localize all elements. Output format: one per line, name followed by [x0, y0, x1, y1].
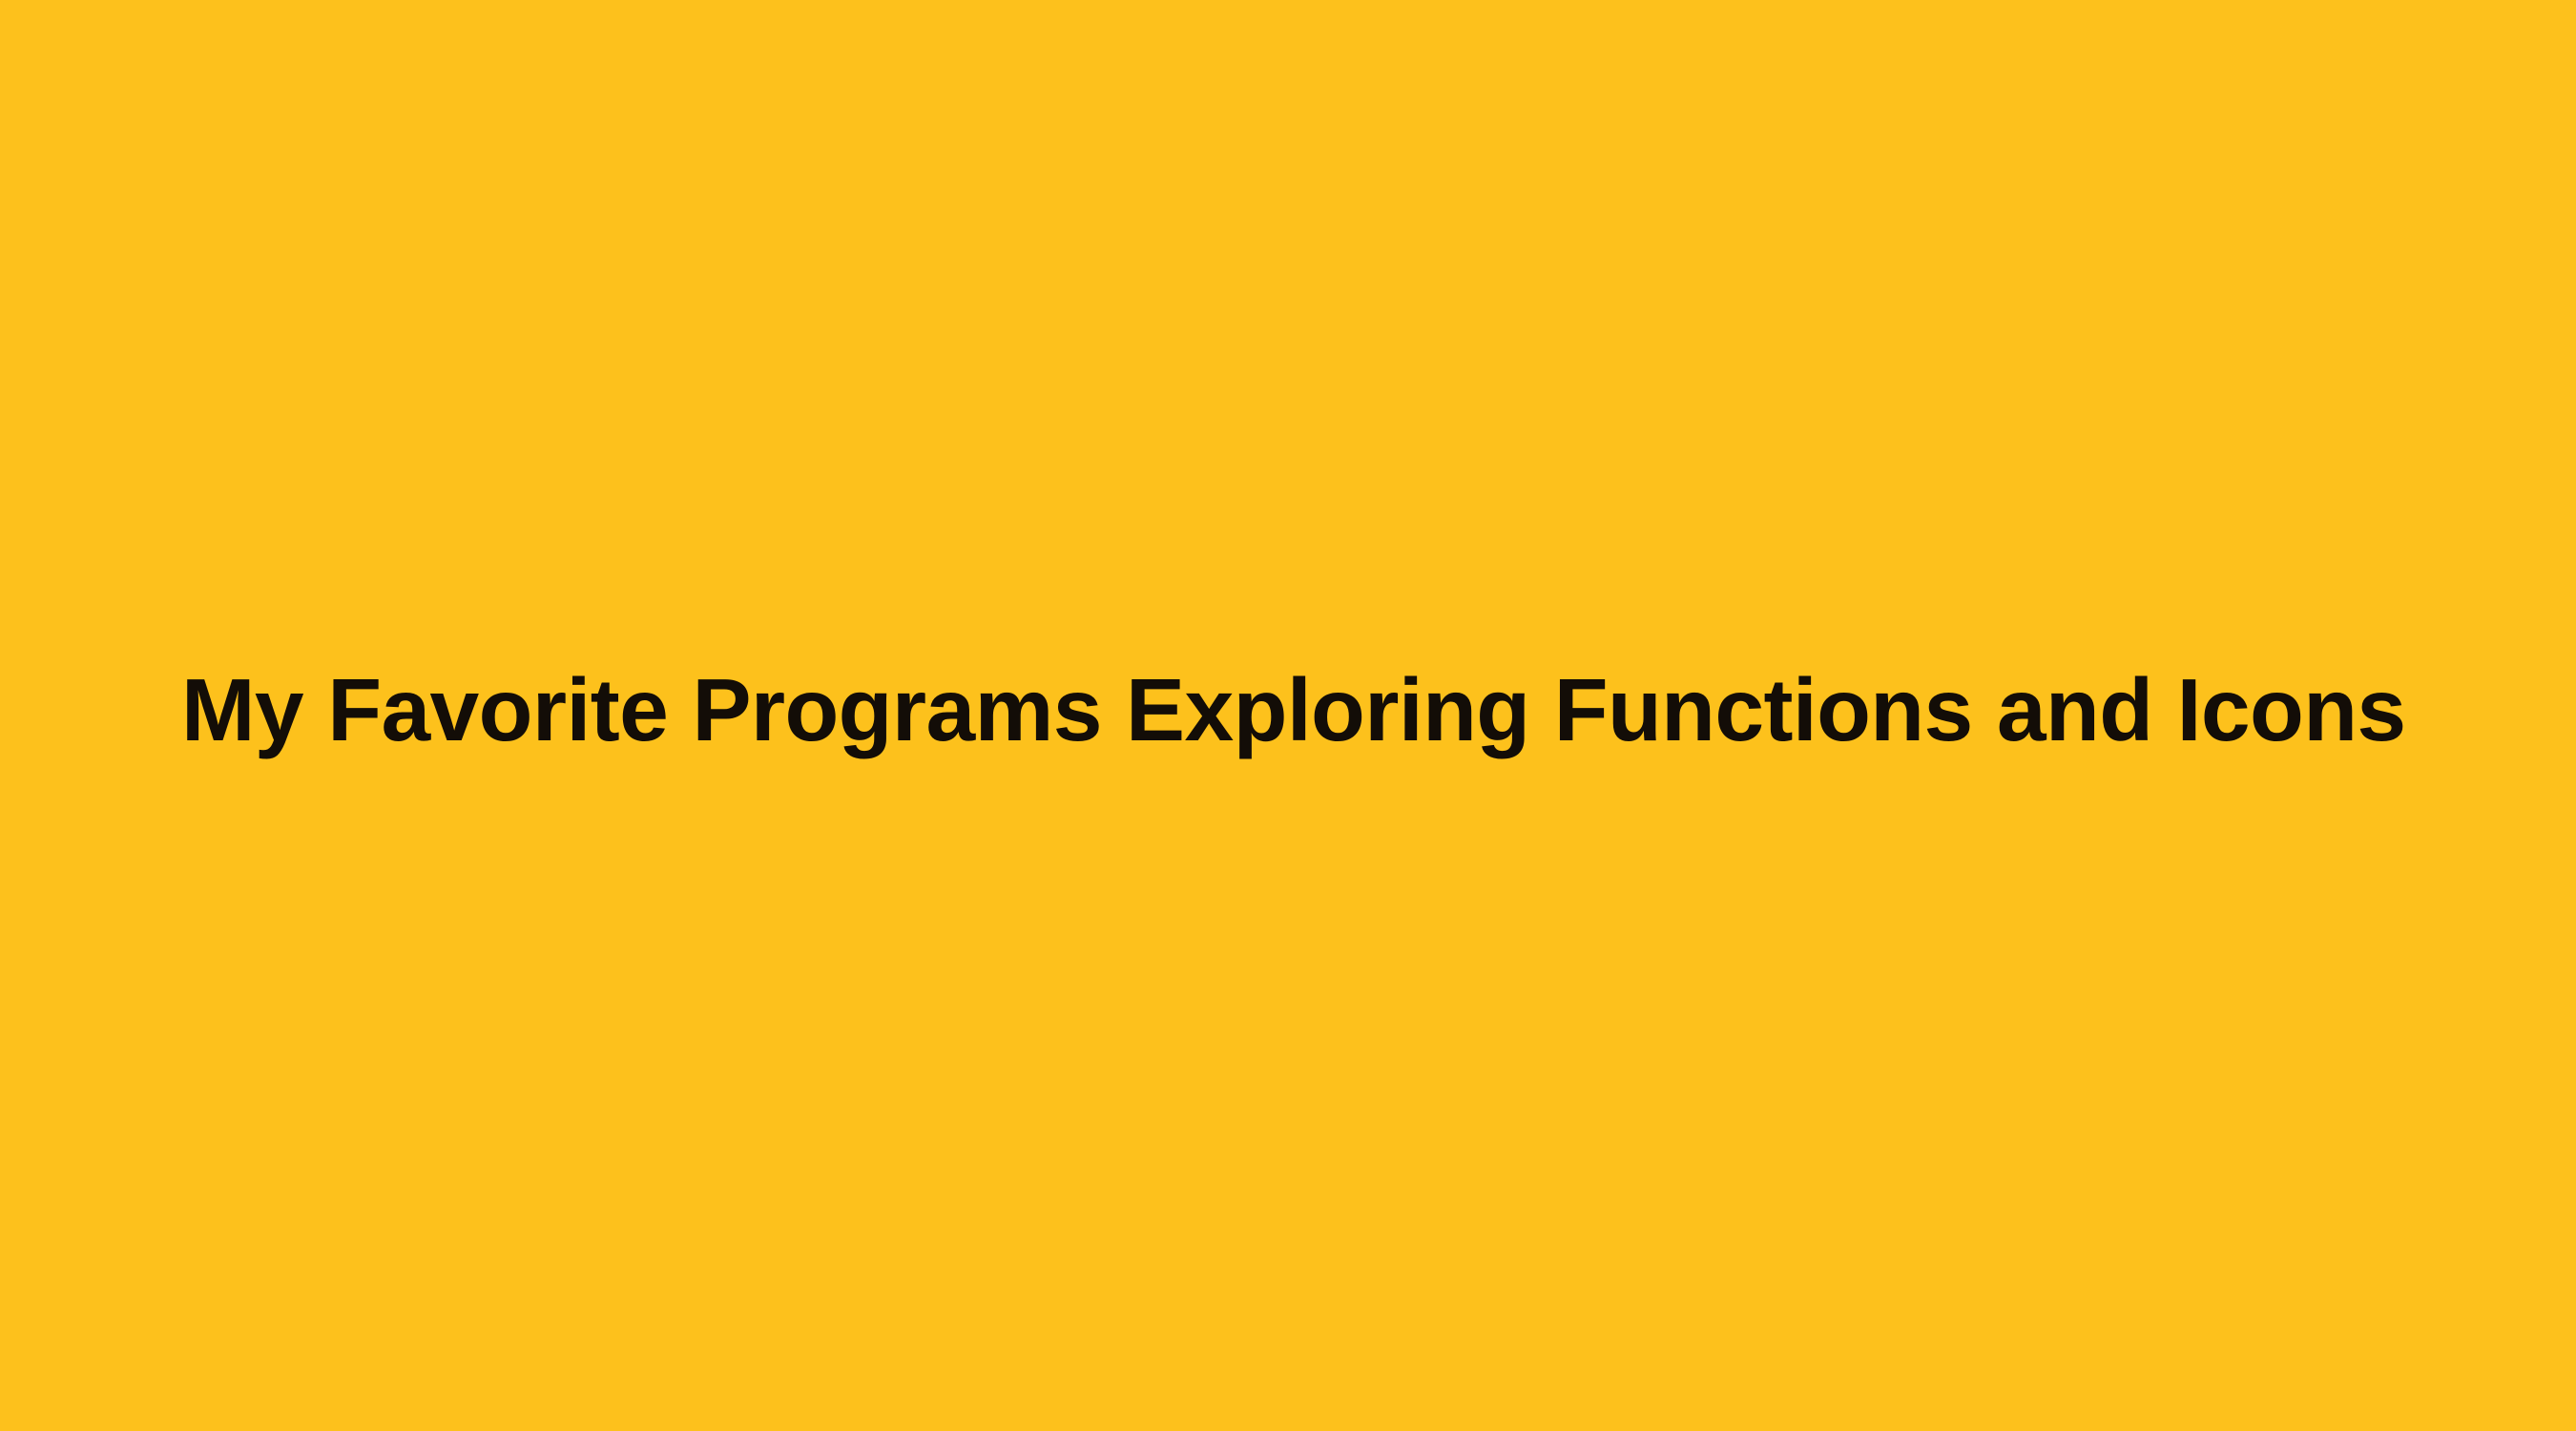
title-slide: My Favorite Programs Exploring Functions…	[0, 0, 2576, 1431]
slide-headline: My Favorite Programs Exploring Functions…	[181, 658, 2406, 763]
